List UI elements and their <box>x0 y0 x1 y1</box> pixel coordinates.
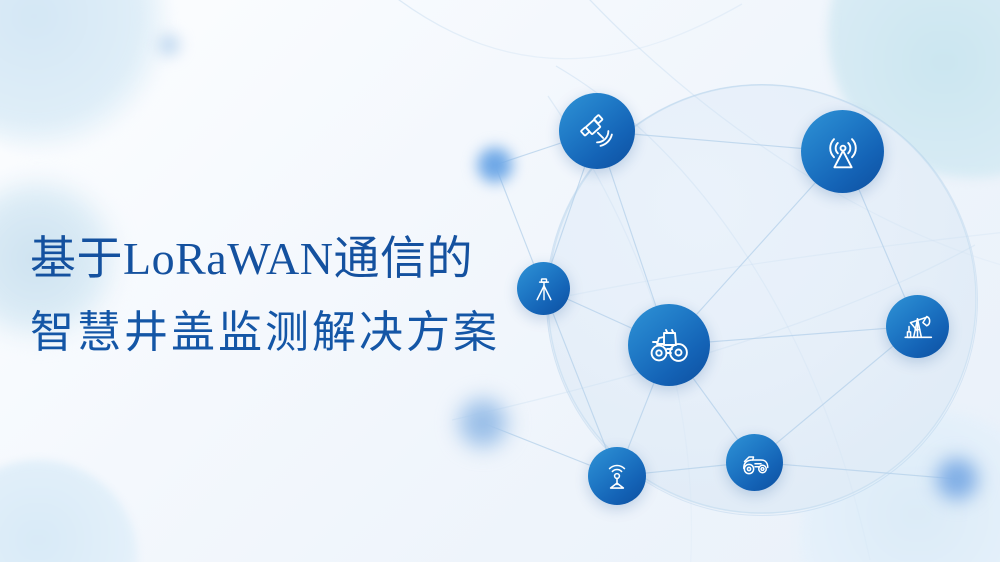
title-line-2: 智慧井盖监测解决方案 <box>30 304 590 363</box>
node-signal-beacon[interactable] <box>588 447 646 505</box>
signal-beacon-icon <box>600 459 634 493</box>
title-line-1: 基于LoRaWAN通信的 <box>30 228 590 290</box>
node-oil-pumpjack[interactable] <box>886 295 949 358</box>
node-tractor[interactable] <box>628 304 710 386</box>
slide-canvas: 基于LoRaWAN通信的 智慧井盖监测解决方案 <box>0 0 1000 562</box>
tractor-icon <box>645 321 693 369</box>
oil-pumpjack-icon <box>899 308 936 345</box>
node-harvester[interactable] <box>726 434 783 491</box>
node-satellite[interactable] <box>559 93 635 169</box>
node-radio-tower[interactable] <box>801 110 884 193</box>
radio-tower-icon <box>820 129 866 175</box>
satellite-icon <box>576 110 618 152</box>
title-block: 基于LoRaWAN通信的 智慧井盖监测解决方案 <box>30 228 590 363</box>
harvester-icon <box>737 445 773 481</box>
